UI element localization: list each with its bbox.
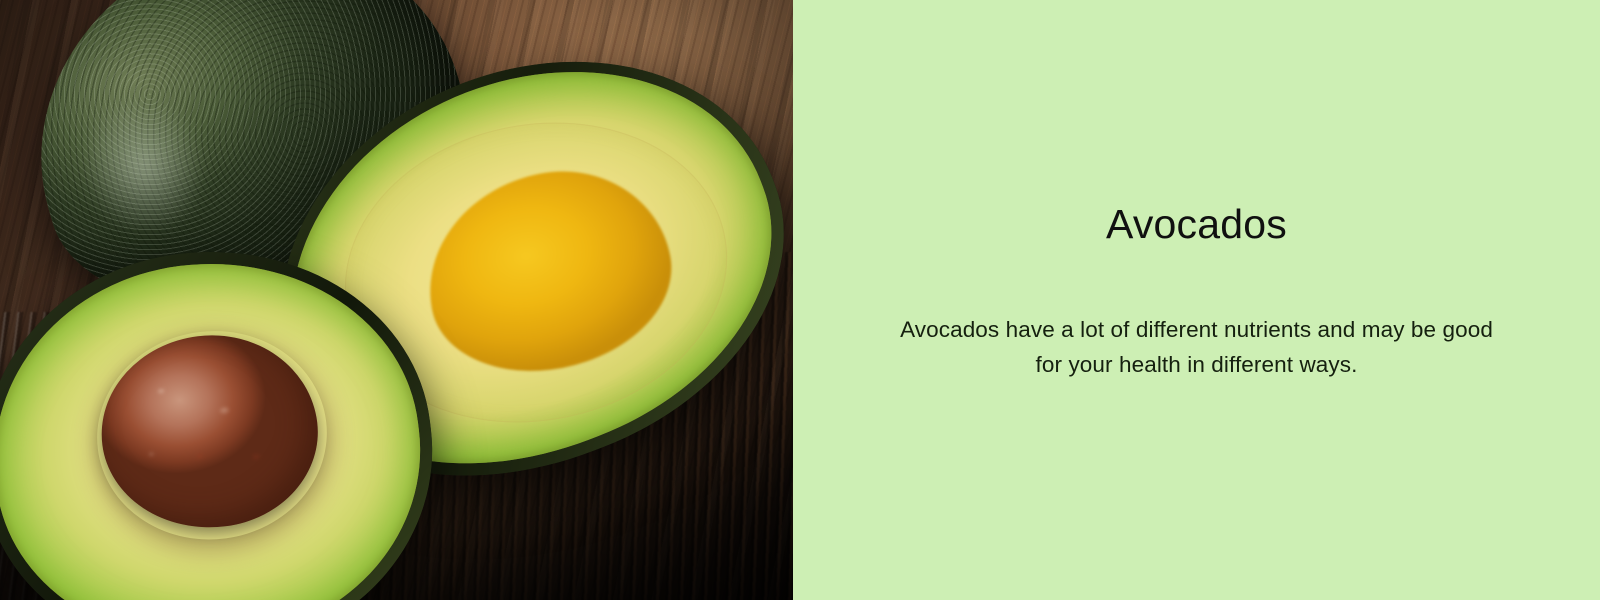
avocado-pit-texture xyxy=(90,323,328,540)
avocado-pit xyxy=(90,323,328,540)
page-title: Avocados xyxy=(897,202,1497,247)
info-panel: Avocados Avocados have a lot of differen… xyxy=(793,0,1600,600)
description-text: Avocados have a lot of different nutrien… xyxy=(897,313,1497,383)
avocado-info-card: Avocados Avocados have a lot of differen… xyxy=(0,0,1600,600)
info-panel-content: Avocados Avocados have a lot of differen… xyxy=(897,202,1497,383)
avocado-photo xyxy=(0,0,793,600)
